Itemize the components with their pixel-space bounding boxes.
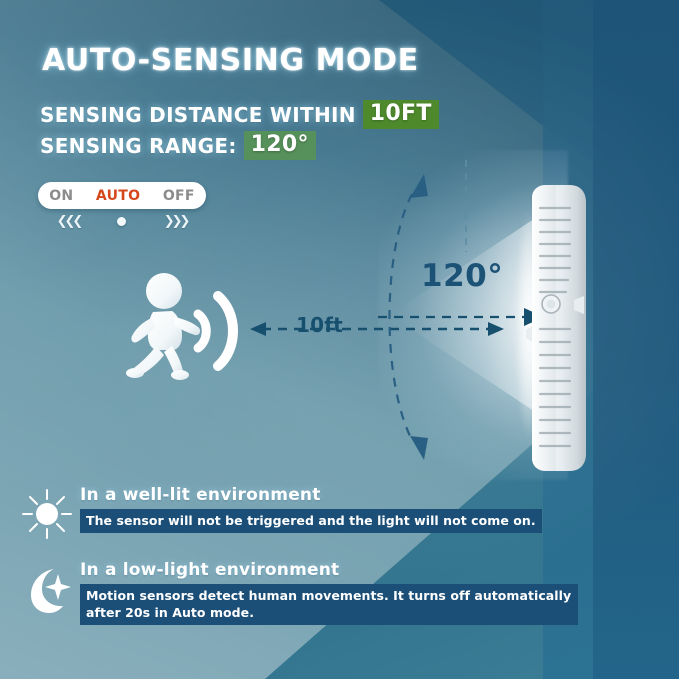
mode-switch-track[interactable]: ❮❮❮ ❯❯❯ bbox=[38, 212, 206, 230]
chevron-left-icon: ❮❮❮ bbox=[57, 214, 81, 229]
sensing-distance-line: SENSING DISTANCE WITHIN 10FT bbox=[40, 100, 439, 129]
motion-sensor-light-device bbox=[522, 182, 590, 474]
info-heading-low-light: In a low-light environment bbox=[80, 560, 578, 580]
moon-icon bbox=[20, 562, 74, 616]
mode-option-auto[interactable]: AUTO bbox=[96, 188, 140, 204]
chevron-right-icon: ❯❯❯ bbox=[164, 214, 188, 229]
page-title: AUTO-SENSING MODE bbox=[42, 43, 419, 78]
sensing-range-line: SENSING RANGE: 120° bbox=[40, 131, 316, 160]
mode-switch-pill[interactable]: ON AUTO OFF bbox=[38, 182, 206, 209]
sensing-range-label: SENSING RANGE: bbox=[40, 134, 237, 158]
info-row-low-light: In a low-light environment Motion sensor… bbox=[18, 560, 578, 625]
info-text-well-lit: The sensor will not be triggered and the… bbox=[80, 509, 542, 533]
info-row-well-lit: In a well-lit environment The sensor wil… bbox=[18, 485, 578, 533]
info-heading-well-lit: In a well-lit environment bbox=[80, 485, 578, 505]
sensing-distance-badge: 10FT bbox=[363, 100, 439, 129]
mode-switch-knob[interactable] bbox=[117, 217, 126, 226]
infographic-canvas: AUTO-SENSING MODE SENSING DISTANCE WITHI… bbox=[0, 0, 679, 679]
sun-icon bbox=[20, 487, 74, 541]
distance-label: 10ft bbox=[296, 313, 343, 337]
sensing-distance-label: SENSING DISTANCE WITHIN bbox=[40, 103, 356, 127]
mode-switch[interactable]: ON AUTO OFF ❮❮❮ ❯❯❯ bbox=[38, 182, 206, 230]
info-text-low-light: Motion sensors detect human movements. I… bbox=[80, 584, 578, 625]
mode-option-on[interactable]: ON bbox=[49, 188, 73, 204]
info-body-well-lit: In a well-lit environment The sensor wil… bbox=[80, 485, 578, 533]
info-body-low-light: In a low-light environment Motion sensor… bbox=[80, 560, 578, 625]
sensing-range-badge: 120° bbox=[244, 131, 316, 160]
motion-wave-icon bbox=[190, 288, 248, 378]
mode-option-off[interactable]: OFF bbox=[163, 188, 195, 204]
angle-label: 120° bbox=[421, 258, 503, 294]
